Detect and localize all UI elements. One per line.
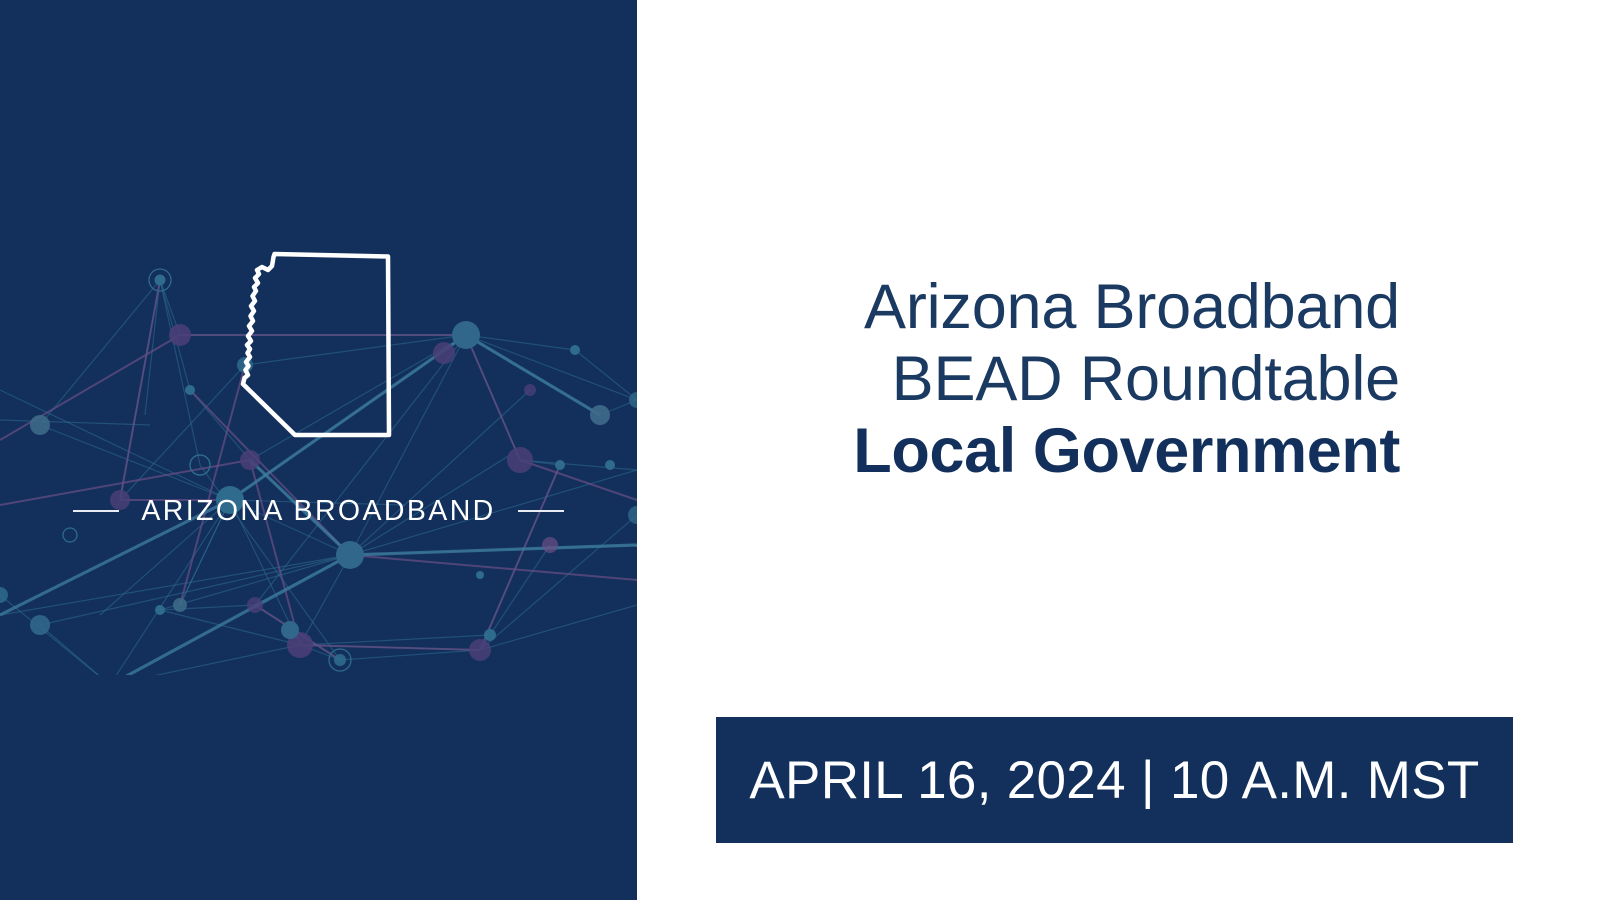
event-announcement-slide: ARIZONA BROADBAND Arizona Broadband BEAD… (0, 0, 1600, 900)
arizona-state-outline-icon (228, 245, 408, 465)
date-time-banner: APRIL 16, 2024 | 10 A.M. MST (716, 717, 1513, 843)
event-title-line-2: BEAD Roundtable (637, 344, 1400, 416)
event-title-line-1: Arizona Broadband (637, 272, 1400, 344)
event-title-block: Arizona Broadband BEAD Roundtable Local … (637, 272, 1400, 487)
logo-wordmark: ARIZONA BROADBAND (0, 497, 637, 526)
logo-wordmark-text: ARIZONA BROADBAND (141, 497, 495, 526)
brand-panel: ARIZONA BROADBAND (0, 0, 637, 900)
event-title-line-3: Local Government (637, 416, 1400, 488)
logo-rule-left (73, 510, 119, 512)
content-panel: Arizona Broadband BEAD Roundtable Local … (637, 0, 1600, 900)
arizona-broadband-logo: ARIZONA BROADBAND (0, 245, 637, 545)
date-time-banner-text: APRIL 16, 2024 | 10 A.M. MST (749, 754, 1479, 807)
logo-rule-right (518, 510, 564, 512)
